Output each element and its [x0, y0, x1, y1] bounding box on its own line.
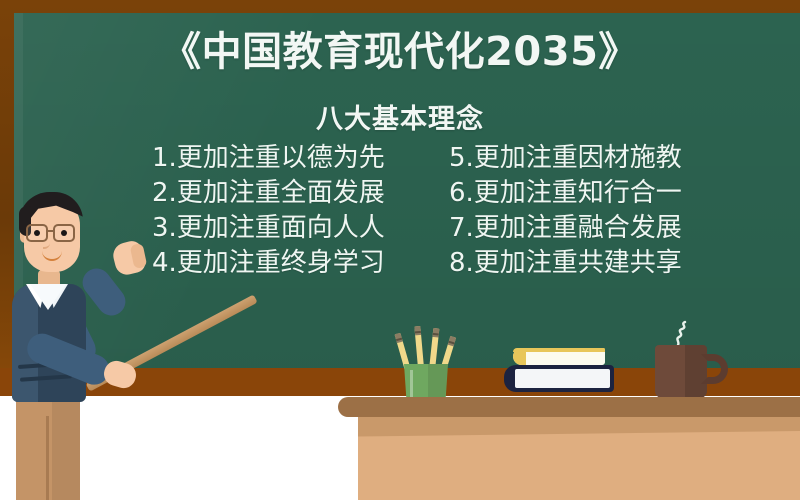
pencil-icon [429, 328, 439, 370]
desk-body-front [358, 431, 800, 500]
stacked-books-icon [504, 348, 614, 398]
desk-top [338, 397, 800, 417]
pencil-tip-icon [432, 328, 439, 338]
glasses-bridge-icon [47, 230, 54, 232]
teacher-trouser-crease [46, 416, 49, 500]
pencil-tip-icon [395, 333, 403, 343]
book-top-cover [513, 348, 605, 352]
poster-scene: 《中国教育现代化2035》 八大基本理念 1.更加注重以德为先 2.更加注重全面… [0, 0, 800, 500]
pencil-cup-icon [398, 318, 454, 398]
steam-icon [671, 320, 695, 346]
coffee-mug-icon [655, 320, 733, 398]
pencil-tip-icon [414, 326, 421, 335]
teacher-eye-right [61, 230, 67, 236]
teacher-illustration [8, 180, 228, 500]
mug-handle [701, 354, 728, 384]
teacher-eye-left [34, 230, 40, 236]
pencil-icon [414, 326, 424, 368]
teacher-trousers-shadow [52, 392, 80, 500]
book-bottom-pages [515, 369, 610, 388]
